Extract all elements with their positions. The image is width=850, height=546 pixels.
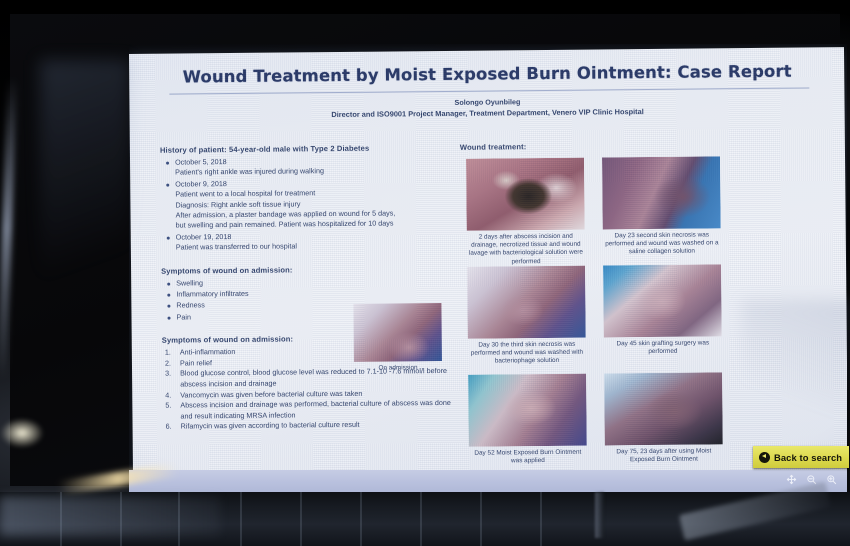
viewer-tool-group xyxy=(786,474,837,485)
figure-caption: Day 30 the third skin necrosis was perfo… xyxy=(468,341,586,368)
viewer-toolbar xyxy=(129,470,847,494)
figure-cell: Day 52 Moist Exposed Burn Ointment was a… xyxy=(468,374,587,476)
history-list: October 5, 2018 Patient's right ankle wa… xyxy=(164,155,451,253)
wound-treatment-heading: Wound treatment: xyxy=(460,139,830,152)
list-item: October 5, 2018 Patient's right ankle wa… xyxy=(164,155,450,179)
wound-photo-1 xyxy=(466,158,585,231)
back-circle-arrow-icon xyxy=(759,452,770,463)
wound-photo-2 xyxy=(602,156,721,229)
figure-cell: Day 45 skin grafting surgery was perform… xyxy=(603,264,722,366)
screenshot-stage: Wound Treatment by Moist Exposed Burn Oi… xyxy=(0,0,850,546)
presentation-slide: Wound Treatment by Moist Exposed Burn Oi… xyxy=(129,47,847,479)
back-to-search-label: Back to search xyxy=(774,452,842,463)
wound-photo-4 xyxy=(603,264,722,337)
treatment-text: Abscess incision and drainage was perfor… xyxy=(180,398,452,422)
left-column: History of patient: 54-year-old male wit… xyxy=(160,143,453,433)
figure-cell: Day 30 the third skin necrosis was perfo… xyxy=(467,266,586,368)
bezel-glare-right xyxy=(742,300,850,450)
wound-photo-5 xyxy=(468,374,587,447)
zoom-in-icon[interactable] xyxy=(826,474,837,485)
list-item: October 9, 2018 Patient went to a local … xyxy=(164,177,450,232)
admission-figure: On admission xyxy=(353,303,442,373)
right-column: Wound treatment: 2 days after abscess in… xyxy=(460,139,830,155)
figure-caption: Day 23 second skin necrosis was performe… xyxy=(603,231,721,258)
list-item: Rifamycin was given according to bacteri… xyxy=(166,419,453,432)
bezel-glare-upper xyxy=(40,60,130,400)
admission-caption: On admission xyxy=(354,364,442,373)
figure-row: 2 days after abscess incision and draina… xyxy=(466,155,827,259)
desk-foreground xyxy=(0,492,850,546)
figure-caption: Day 45 skin grafting surgery was perform… xyxy=(604,339,722,366)
figure-cell: 2 days after abscess incision and draina… xyxy=(466,158,585,260)
symptoms-heading: Symptoms of wound on admission: xyxy=(161,264,451,276)
list-item: October 19, 2018 Patient was transferred… xyxy=(165,230,451,254)
monitor-screen: Wound Treatment by Moist Exposed Burn Oi… xyxy=(129,44,847,494)
wound-photo-3 xyxy=(467,266,586,339)
history-date: October 5, 2018 xyxy=(175,157,227,166)
figure-cell: Day 75, 23 days after using Moist Expose… xyxy=(604,372,723,474)
monitor-bezel: Wound Treatment by Moist Exposed Burn Oi… xyxy=(10,14,840,486)
admission-photo xyxy=(353,303,442,362)
history-date: October 9, 2018 xyxy=(175,179,227,188)
figure-cell: Day 23 second skin necrosis was performe… xyxy=(602,156,721,258)
history-date: October 19, 2018 xyxy=(176,232,232,242)
treatment-text: Rifamycin was given according to bacteri… xyxy=(181,419,453,432)
list-item: Abscess incision and drainage was perfor… xyxy=(165,398,452,422)
figure-caption: 2 days after abscess incision and draina… xyxy=(467,233,585,260)
wound-photo-6 xyxy=(604,372,723,445)
slide-title: Wound Treatment by Moist Exposed Burn Oi… xyxy=(177,62,797,87)
history-heading: History of patient: 54-year-old male wit… xyxy=(160,143,450,155)
lamp-highlight xyxy=(0,418,44,448)
pan-move-icon[interactable] xyxy=(786,474,797,485)
title-divider xyxy=(169,87,809,94)
